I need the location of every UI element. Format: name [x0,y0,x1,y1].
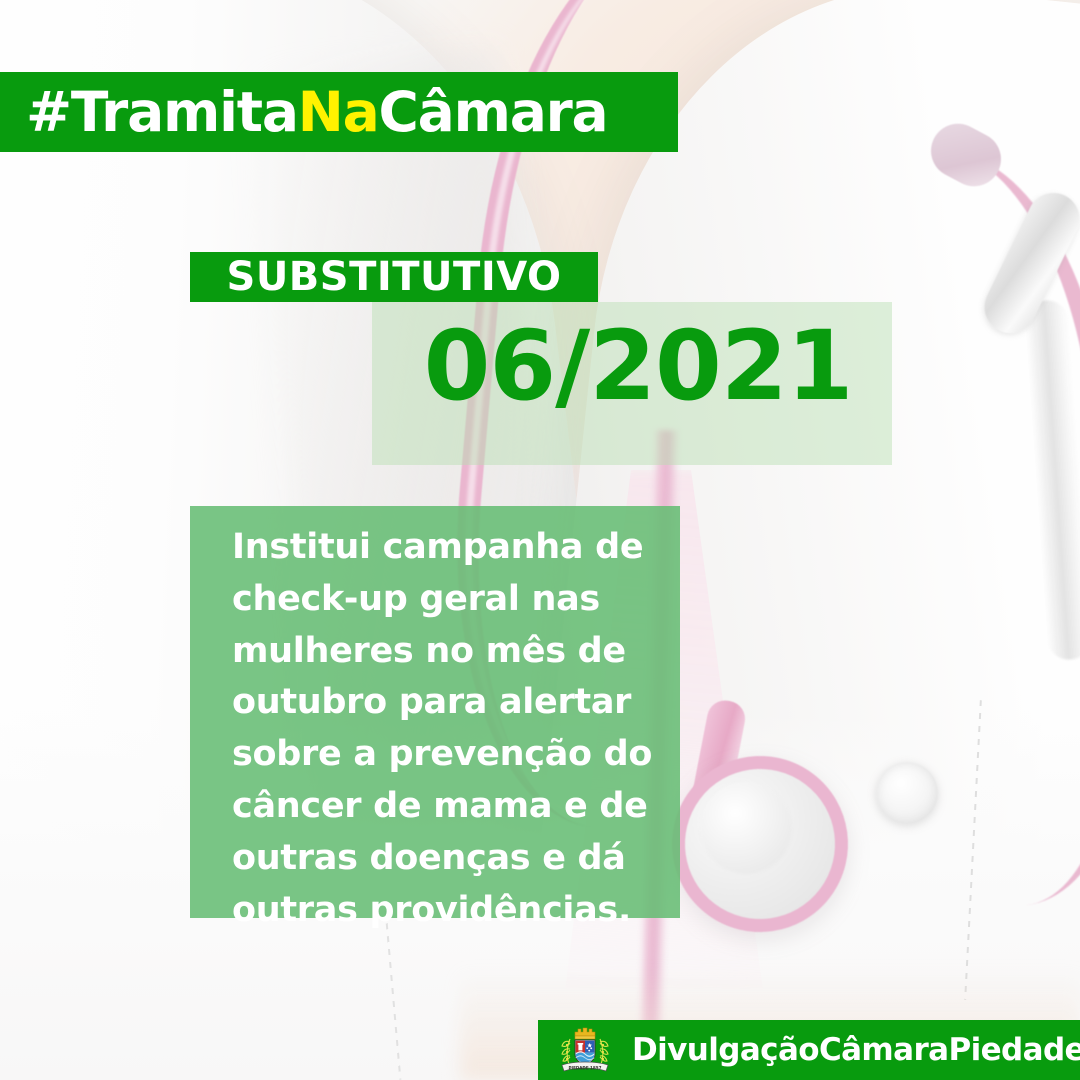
document-description: Institui campanha de check-up geral nas … [232,522,658,936]
hashtag-label: #TramitaNaCâmara [26,85,607,140]
stethoscope-diaphragm [700,782,792,874]
piedade-coat-of-arms-icon: PIEDADE 1857 [556,1024,614,1076]
lab-coat-button [876,762,938,824]
document-description-box: Institui campanha de check-up geral nas … [190,506,680,918]
footer-credit-bar: PIEDADE 1857 DivulgaçãoCâmaraPiedade [538,1020,1080,1080]
hashtag-suffix: Câmara [379,80,608,144]
document-type-label: SUBSTITUTIVO [227,257,562,297]
crest-motto: PIEDADE 1857 [569,1065,602,1070]
document-type-banner: SUBSTITUTIVO [190,252,598,302]
social-media-poster: #TramitaNaCâmara SUBSTITUTIVO 06/2021 In… [0,0,1080,1080]
footer-credit-label: DivulgaçãoCâmaraPiedade [632,1035,1080,1066]
hashtag-banner: #TramitaNaCâmara [0,72,678,152]
document-number: 06/2021 [388,318,888,414]
hashtag-highlight: Na [298,80,379,144]
hashtag-prefix: #Tramita [26,80,298,144]
